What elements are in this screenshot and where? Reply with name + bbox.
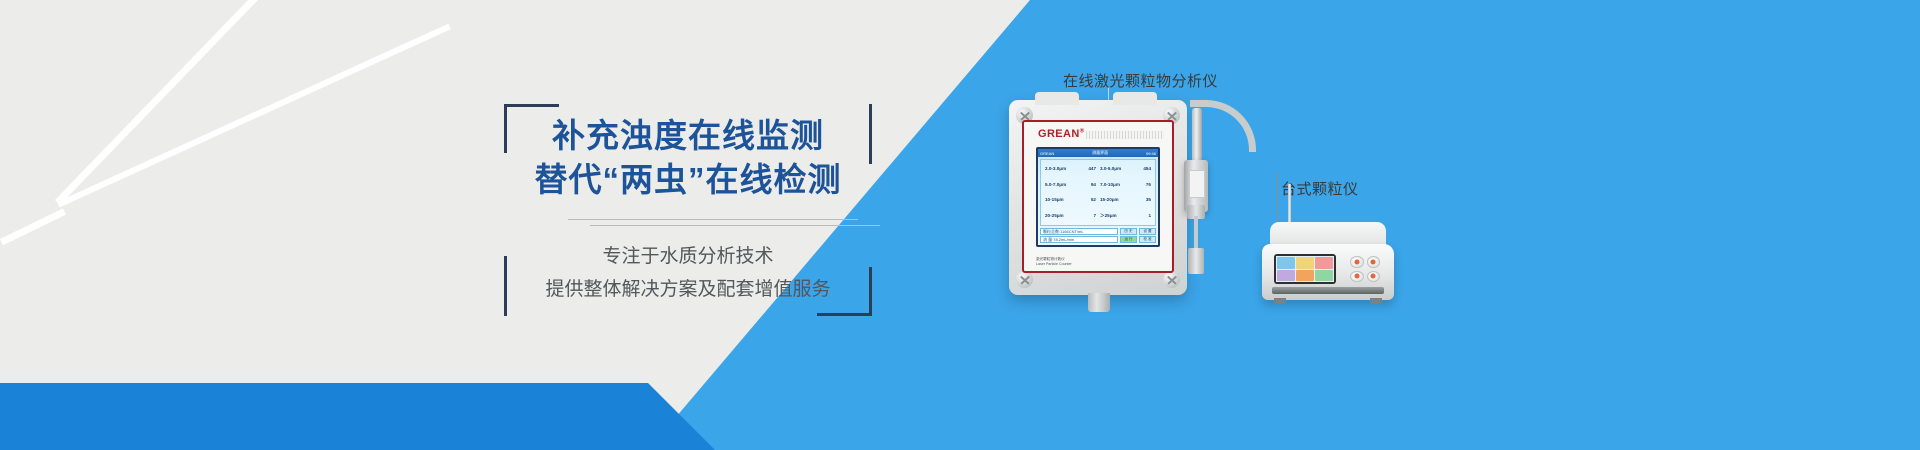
headline-block: 补充浊度在线监测 替代“两虫”在线检测 专注于水质分析技术 提供整体解决方案及配… <box>504 104 872 316</box>
analyser-bottom-port <box>1088 293 1110 312</box>
callout-label-online-analyser: 在线激光颗粒物分析仪 <box>1063 70 1218 91</box>
sensor-label-plate <box>1189 170 1205 198</box>
display-tile <box>1296 257 1314 269</box>
sensor-connector-tube <box>1194 216 1198 252</box>
settings-button[interactable]: 设 置 <box>1139 228 1156 235</box>
keypad-button[interactable] <box>1367 271 1381 283</box>
display-status-right: 09:46 <box>1146 151 1156 156</box>
run-button[interactable]: 运 行 <box>1120 236 1137 243</box>
subtitle-line-1: 专注于水质分析技术 <box>504 240 872 273</box>
promo-banner: 补充浊度在线监测 替代“两虫”在线检测 专注于水质分析技术 提供整体解决方案及配… <box>0 0 1920 450</box>
analyser-display[interactable]: GREAN 测量界面 09:46 2.0-3.0μm447 3.0-5.0μm4… <box>1036 147 1160 247</box>
analyser-top-tab-right <box>1113 92 1157 105</box>
display-status-bar: GREAN 测量界面 09:46 <box>1038 149 1158 157</box>
particle-size-table: 2.0-3.0μm447 3.0-5.0μm454 5.0-7.0μm94 7.… <box>1040 159 1156 226</box>
display-status-left: GREAN <box>1040 151 1054 156</box>
keypad-button[interactable] <box>1350 256 1364 268</box>
headline-line-2: 替代“两虫”在线检测 <box>504 158 872 202</box>
subtitle-line-2: 提供整体解决方案及配套增值服务 <box>504 273 872 306</box>
calibrate-button[interactable]: 校 准 <box>1139 236 1156 243</box>
table-row: 20-25μm7 ＞25μm1 <box>1043 213 1153 219</box>
analyser-top-tab-left <box>1035 92 1079 105</box>
divider-rule-bottom <box>590 225 880 226</box>
callout-leader-line-2 <box>1276 172 1277 224</box>
display-footer: 颗粒总数:1166CNT/mL 历 史 设 置 流 量:78.2mL/min 运… <box>1040 228 1156 243</box>
screw-icon <box>1163 271 1180 288</box>
benchtop-front-slot <box>1272 287 1384 294</box>
divider-rule-top <box>568 219 858 220</box>
benchtop-keypad[interactable] <box>1350 256 1380 282</box>
analyser-model-caption: 激光颗粒物计数仪 Laser Particle Counter <box>1036 257 1072 267</box>
keypad-button[interactable] <box>1350 271 1364 283</box>
display-tile <box>1315 270 1333 282</box>
screw-icon <box>1016 271 1033 288</box>
table-row: 2.0-3.0μm447 3.0-5.0μm454 <box>1043 166 1153 171</box>
flow-rate-readout: 流 量:78.2mL/min <box>1040 236 1118 243</box>
subtitle: 专注于水质分析技术 提供整体解决方案及配套增值服务 <box>504 240 872 306</box>
sensor-cap-lower <box>1188 248 1204 274</box>
table-row: 10-15μm52 15-20μm35 <box>1043 197 1153 202</box>
keypad-button[interactable] <box>1367 256 1381 268</box>
benchtop-display[interactable] <box>1274 254 1336 284</box>
benchtop-particle-counter <box>1262 222 1394 300</box>
sample-tube <box>1192 108 1202 166</box>
display-tile <box>1277 270 1295 282</box>
antenna-rod <box>1288 184 1291 224</box>
display-tile <box>1296 270 1314 282</box>
brand-logo: GREAN® <box>1038 128 1085 140</box>
display-status-center: 测量界面 <box>1092 150 1108 156</box>
display-tile <box>1315 257 1333 269</box>
callout-label-benchtop-counter: 台式颗粒仪 <box>1281 178 1359 199</box>
total-count-readout: 颗粒总数:1166CNT/mL <box>1040 228 1118 235</box>
benchtop-foot <box>1274 298 1286 304</box>
vent-grille <box>1086 131 1164 139</box>
display-tile <box>1277 257 1295 269</box>
page-title: 补充浊度在线监测 替代“两虫”在线检测 <box>504 114 872 202</box>
analyser-front-panel: GREAN® GREAN 测量界面 09:46 2.0-3.0μm447 3.0… <box>1022 120 1174 273</box>
headline-line-1: 补充浊度在线监测 <box>552 117 824 154</box>
table-row: 5.0-7.0μm94 7.0-10μm76 <box>1043 182 1153 187</box>
history-button[interactable]: 历 史 <box>1120 228 1137 235</box>
online-laser-particle-analyser: GREAN® GREAN 测量界面 09:46 2.0-3.0μm447 3.0… <box>1009 100 1187 295</box>
benchtop-foot <box>1370 298 1382 304</box>
